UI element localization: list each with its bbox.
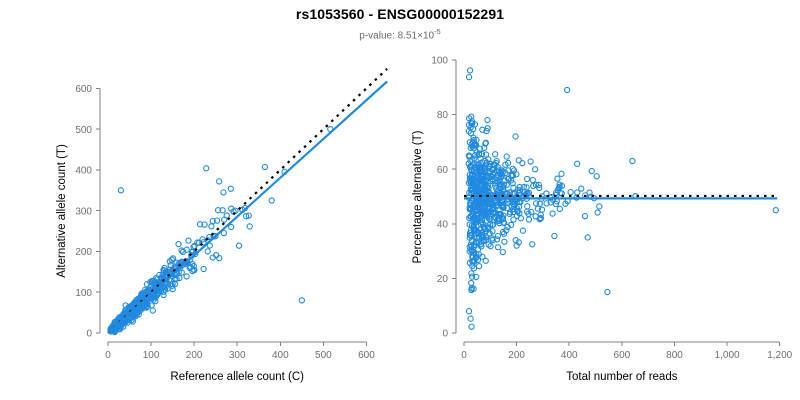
y-tick-label: 0	[442, 329, 448, 340]
y-tick-label: 20	[437, 274, 449, 285]
y-tick-label: 60	[437, 165, 449, 176]
data-point	[579, 186, 584, 191]
y-tick-label: 300	[75, 206, 92, 217]
data-point	[550, 211, 555, 216]
data-point	[201, 266, 206, 271]
data-point	[269, 198, 274, 203]
data-point	[217, 179, 222, 184]
data-point	[513, 134, 518, 139]
y-tick-label: 100	[431, 56, 448, 67]
data-point	[118, 188, 123, 193]
x-tick-label: 200	[508, 350, 525, 361]
x-tick-label: 1,200	[767, 350, 792, 361]
data-point	[468, 316, 473, 321]
data-point	[469, 324, 474, 329]
data-point	[477, 264, 482, 269]
data-point	[247, 224, 252, 229]
x-tick-label: 0	[461, 350, 467, 361]
data-point	[530, 242, 535, 247]
data-point	[222, 217, 227, 222]
x-tick-label: 600	[358, 350, 375, 361]
data-point	[568, 190, 573, 195]
data-point	[557, 206, 562, 211]
x-axis-title-right: Total number of reads	[472, 371, 772, 383]
data-point	[504, 154, 509, 159]
data-point	[589, 168, 594, 173]
data-point	[773, 208, 778, 213]
data-point	[485, 117, 490, 122]
data-point	[552, 233, 557, 238]
x-tick-label: 1,000	[715, 350, 740, 361]
data-point	[528, 159, 533, 164]
data-point	[575, 161, 580, 166]
data-point	[495, 245, 500, 250]
y-tick-label: 400	[75, 166, 92, 177]
x-tick-label: 400	[272, 350, 289, 361]
data-point	[184, 274, 189, 279]
data-point	[217, 256, 222, 261]
data-point	[161, 292, 166, 297]
data-point	[533, 167, 538, 172]
data-point	[520, 161, 525, 166]
x-axis-title-left: Reference allele count (C)	[87, 371, 387, 383]
data-point	[630, 158, 635, 163]
data-point	[555, 176, 560, 181]
data-point	[209, 224, 214, 229]
y-tick-label: 40	[437, 219, 449, 230]
data-point	[229, 224, 234, 229]
data-point	[205, 249, 210, 254]
data-point	[518, 216, 523, 221]
data-point	[500, 250, 505, 255]
data-point	[466, 75, 471, 80]
data-point	[467, 68, 472, 73]
data-point	[495, 233, 500, 238]
scatter-panel-right: 02040608010002004006008001,0001,200 Tota…	[400, 0, 800, 400]
trend-lines-group	[464, 196, 777, 198]
data-point	[594, 174, 599, 179]
x-tick-label: 300	[229, 350, 246, 361]
data-point	[582, 214, 587, 219]
data-point	[502, 239, 507, 244]
x-tick-label: 500	[315, 350, 332, 361]
x-tick-label: 400	[561, 350, 578, 361]
data-point	[299, 298, 304, 303]
scatter-plot-right: 02040608010002004006008001,0001,200	[400, 0, 800, 400]
data-point	[525, 204, 530, 209]
data-point	[475, 247, 480, 252]
figure-root: rs1053560 - ENSG00000152291 p-value: 8.5…	[0, 0, 800, 400]
data-point	[526, 217, 531, 222]
x-tick-label: 600	[614, 350, 631, 361]
y-tick-label: 200	[75, 247, 92, 258]
data-point	[493, 152, 498, 157]
y-tick-label: 80	[437, 110, 449, 121]
data-point	[559, 171, 564, 176]
data-point	[262, 164, 267, 169]
data-point	[469, 271, 474, 276]
data-point	[176, 242, 181, 247]
y-tick-label: 500	[75, 125, 92, 136]
data-point	[150, 308, 155, 313]
data-point	[525, 176, 530, 181]
data-point	[179, 248, 184, 253]
data-point	[483, 258, 488, 263]
data-point	[605, 289, 610, 294]
x-tick-label: 100	[143, 350, 160, 361]
data-point	[204, 166, 209, 171]
data-point	[228, 186, 233, 191]
x-tick-label: 200	[186, 350, 203, 361]
y-tick-label: 600	[75, 84, 92, 95]
y-axis-title-left: Alternative allele count (T)	[56, 144, 68, 278]
data-point	[533, 201, 538, 206]
y-tick-label: 100	[75, 288, 92, 299]
data-point	[186, 238, 191, 243]
data-point	[221, 190, 226, 195]
data-point	[236, 243, 241, 248]
scatter-panel-left: 01002003004005006000100200300400500600 R…	[0, 0, 400, 400]
x-tick-label: 800	[666, 350, 683, 361]
y-tick-label: 0	[86, 329, 92, 340]
y-axis-title-right: Percentage alternative (T)	[412, 130, 424, 263]
x-tick-label: 0	[105, 350, 111, 361]
data-point	[466, 309, 471, 314]
data-point	[520, 228, 525, 233]
regression-fit-line	[108, 81, 387, 333]
data-point	[530, 177, 535, 182]
data-point	[585, 235, 590, 240]
data-point	[595, 210, 600, 215]
data-point	[565, 87, 570, 92]
data-point	[597, 204, 602, 209]
